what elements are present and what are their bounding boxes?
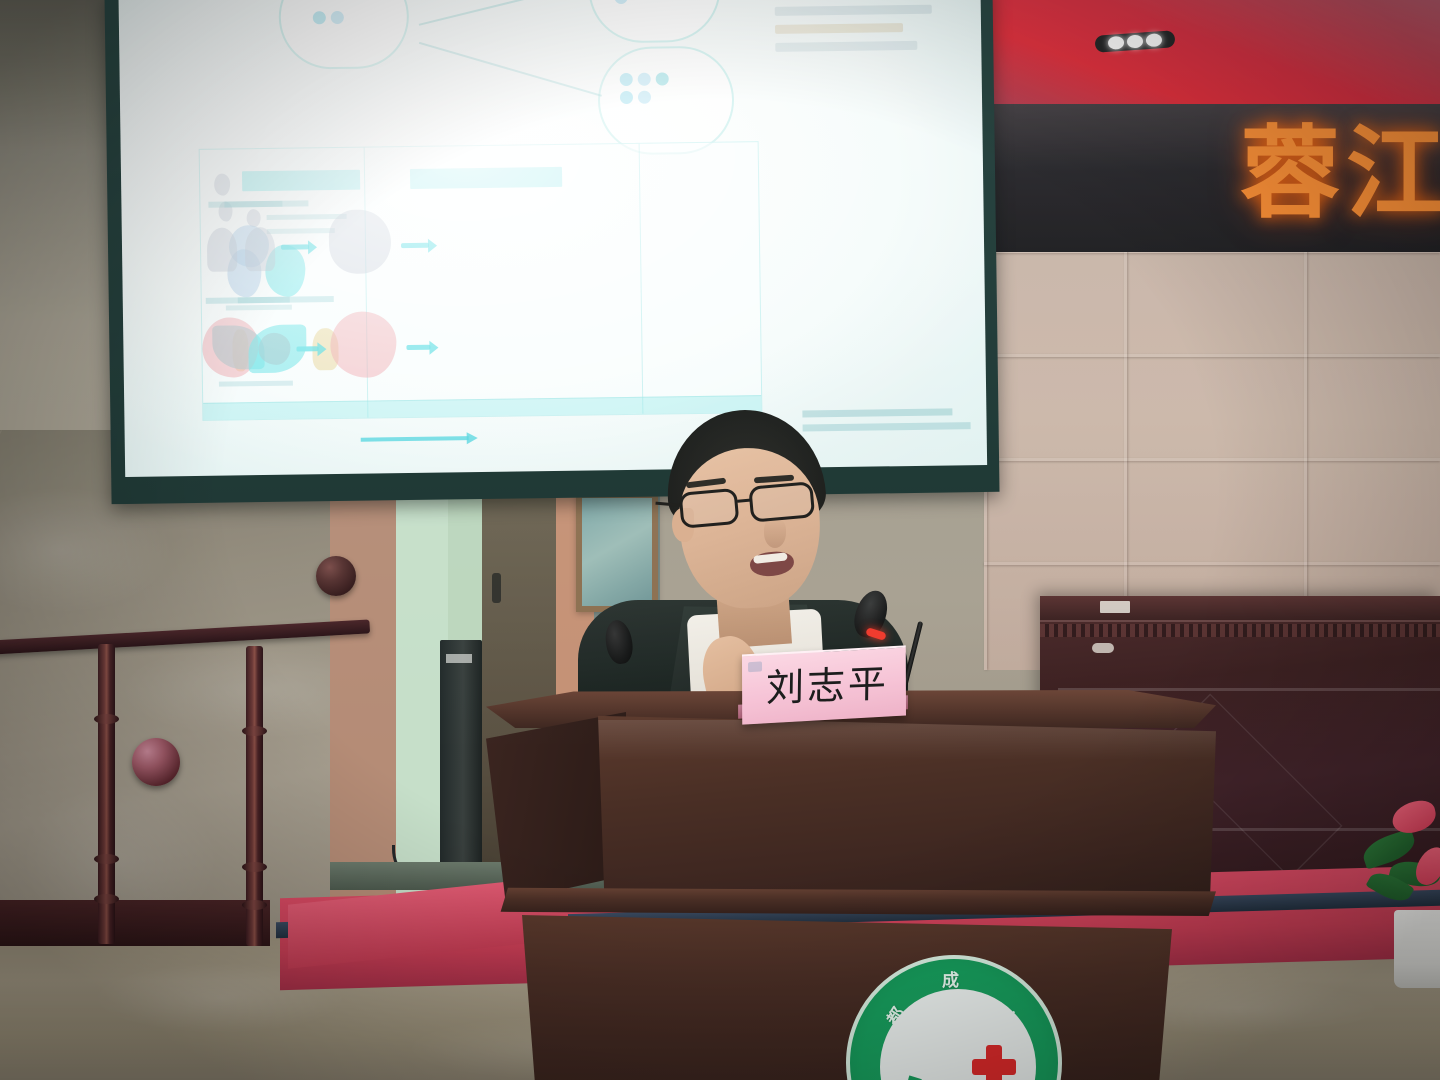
baluster-2 — [246, 646, 263, 946]
door-handle[interactable] — [492, 573, 501, 603]
figure-icon-cell-a — [214, 173, 230, 195]
plant-pot — [1394, 910, 1440, 988]
desk-nameplate — [1100, 601, 1130, 613]
figure-shape-mid-2 — [329, 209, 392, 274]
figure-header-2 — [410, 167, 562, 189]
figure-arrow-1 — [281, 244, 309, 249]
emblem-ring: 成 都 中 医 药 — [846, 955, 1062, 1080]
figure-caption-left-4 — [219, 381, 293, 387]
podium-emblem: 成 都 中 医 药 — [846, 955, 1064, 1080]
figure-arrow-2 — [401, 243, 429, 248]
flow-connector-2 — [419, 42, 602, 97]
speaker-label — [446, 654, 472, 663]
figure-caption-right-2 — [206, 297, 290, 304]
ceiling-red — [990, 0, 1440, 112]
flow-node-1 — [278, 0, 409, 70]
slide-figure-panel — [199, 141, 763, 421]
figure-shape-right-1 — [207, 227, 238, 271]
led-banner: 蓉江 — [990, 104, 1440, 252]
flow-node-3 — [597, 45, 734, 155]
newel-ball-far — [316, 556, 356, 596]
lectern-front-upper — [598, 712, 1216, 904]
figure-caption-right-1 — [208, 201, 282, 208]
figure-caption-left-2 — [267, 228, 335, 234]
presenter-nose — [764, 518, 786, 548]
emblem-swoosh — [887, 1014, 1041, 1080]
baluster-1 — [98, 644, 115, 944]
emblem-char-1: 成 — [942, 966, 959, 991]
name-card: 刘志平 — [742, 645, 906, 724]
medical-cross-icon — [972, 1045, 1016, 1080]
slide-legend — [774, 0, 953, 61]
figure-header-1 — [242, 170, 360, 192]
led-banner-text: 蓉江 — [1240, 124, 1440, 224]
flow-node-2 — [588, 0, 721, 43]
newel-post-near — [124, 790, 182, 1080]
figure-shape-mid-5 — [330, 311, 397, 378]
figure-column-right — [640, 142, 764, 414]
name-card-text: 刘志平 — [766, 663, 889, 708]
figure-shape-right-2 — [245, 227, 276, 271]
newel-post-far — [318, 596, 354, 946]
name-card-clip — [748, 661, 762, 672]
desk-badge — [1092, 643, 1114, 653]
figure-caption-left-3 — [226, 305, 292, 311]
figure-arrow-4 — [406, 345, 430, 350]
newel-ball-near — [132, 738, 180, 786]
slide-footer-arrow — [361, 436, 469, 442]
photograph-canvas: 蓉江 — [0, 0, 1440, 1080]
flow-connector-1 — [419, 0, 585, 26]
loudspeaker-box — [440, 640, 482, 870]
